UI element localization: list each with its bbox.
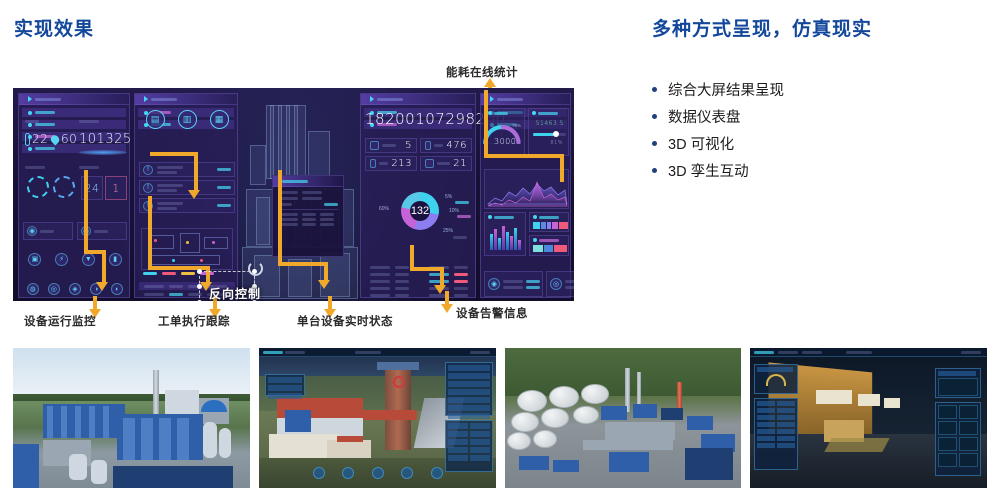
gauge-icon: ▣ xyxy=(28,253,41,266)
page-title-right: 多种方式呈现，仿真现实 xyxy=(652,14,872,41)
list-item: 3D 可视化 xyxy=(652,130,982,157)
bullet-dot-icon xyxy=(652,141,657,146)
heatmap-widget-b xyxy=(529,235,569,256)
caret-right-icon xyxy=(144,96,148,102)
list-item: 数据仪表盘 xyxy=(652,103,982,130)
list-item: 综合大屏结果呈现 xyxy=(652,76,982,103)
scene-camera-grid-panel[interactable] xyxy=(935,402,981,476)
callout-connector-device-status xyxy=(278,170,388,295)
kpi-mini-tile[interactable]: 213 xyxy=(365,156,417,171)
twin-left-menu[interactable] xyxy=(265,374,305,396)
device-summary-tile[interactable]: ◎ xyxy=(546,271,574,297)
scene-gauge-panel[interactable] xyxy=(754,364,798,394)
donut-slice-percent: 25% xyxy=(443,228,453,234)
twin-topbar[interactable] xyxy=(259,348,496,357)
thumbnail-3d-plant-aerial-day[interactable] xyxy=(13,348,250,488)
water-drop-icon xyxy=(49,133,61,145)
donut-slice-percent: 5% xyxy=(445,194,452,200)
workorder-shortcut[interactable]: ▥ xyxy=(178,110,197,129)
annotation-top-label: 能耗在线统计 xyxy=(446,64,518,80)
donut-slice-percent: 10% xyxy=(449,208,459,214)
workorder-shortcut[interactable]: ▤ xyxy=(146,110,165,129)
list-item: 3D 孪生互动 xyxy=(652,157,982,184)
lock-icon: ▦ xyxy=(210,110,229,129)
kpi-mini-tile[interactable]: 21 xyxy=(420,156,472,171)
ring-gauge-a xyxy=(27,176,49,198)
bullet-dot-icon xyxy=(652,114,657,119)
twin-metric-panel[interactable] xyxy=(445,420,493,472)
kpi-mini-tile[interactable]: 5 xyxy=(365,138,417,153)
rotate-icon[interactable] xyxy=(248,261,263,276)
annotation-label: 设备告警信息 xyxy=(456,305,528,321)
kpi-mini-value: 21 xyxy=(453,158,467,169)
meter-icon: ◎ xyxy=(550,278,562,290)
status-dot-icon xyxy=(488,215,492,219)
bar-chart-widget xyxy=(484,212,526,256)
thermometer-icon xyxy=(25,133,30,146)
caret-right-icon xyxy=(370,96,374,102)
resize-handle[interactable] xyxy=(197,284,202,289)
device-icon: ◉ xyxy=(27,226,37,236)
kpi-item: 10729 xyxy=(415,110,465,128)
metric-pressure: 101325 xyxy=(79,130,132,155)
device-summary-tile[interactable]: ◉ xyxy=(484,271,543,297)
scene-topbar[interactable] xyxy=(750,348,987,357)
annotation-label: 工单执行跟踪 xyxy=(158,313,230,329)
heatmap-widget-a xyxy=(529,212,569,232)
semicircle-gauge-icon xyxy=(766,374,786,386)
status-dot-icon xyxy=(533,238,537,242)
list-item-label: 数据仪表盘 xyxy=(668,106,741,127)
bullet-dot-icon xyxy=(652,168,657,173)
annotation-label: 单台设备实时状态 xyxy=(297,313,393,329)
callout-connector-energy xyxy=(480,80,590,185)
overlay-label-reverse-control: 反向控制 xyxy=(209,285,261,301)
scene-list-panel[interactable] xyxy=(754,398,798,470)
callout-connector-monitor xyxy=(54,170,114,295)
thumbnail-3d-night-facility-interior[interactable] xyxy=(750,348,987,488)
donut-center-value: 132 xyxy=(401,192,439,230)
status-dot-icon xyxy=(533,215,537,219)
tools-icon xyxy=(425,159,434,168)
temperature-value: 22 xyxy=(32,132,48,146)
kpi-value: 18200 xyxy=(365,110,415,128)
kpi-item: 18200 xyxy=(365,110,415,128)
thumbnail-strip xyxy=(13,348,987,488)
metric-temperature: 22 xyxy=(25,132,48,146)
page-title-left: 实现效果 xyxy=(14,14,94,41)
list-item-label: 3D 孪生互动 xyxy=(668,160,749,181)
gauge-icon: ◉ xyxy=(488,278,500,290)
twin-status-panel[interactable] xyxy=(445,362,493,416)
pressure-value: 101325 xyxy=(79,132,132,147)
icon-tile[interactable]: ▣ xyxy=(23,253,47,266)
panel-header xyxy=(135,94,237,105)
resize-handle[interactable] xyxy=(197,300,202,301)
list-item-label: 综合大屏结果呈现 xyxy=(668,79,784,100)
document-icon: ▥ xyxy=(178,110,197,129)
section-header-environment xyxy=(22,108,126,117)
twin-bottom-toolbar[interactable] xyxy=(313,464,443,482)
kpi-mini-value: 213 xyxy=(391,158,412,169)
kpi-mini-value: 476 xyxy=(446,140,467,151)
feature-list: 综合大屏结果呈现 数据仪表盘 3D 可视化 3D 孪生互动 xyxy=(652,76,982,184)
icon-tile[interactable]: ◍ xyxy=(23,283,42,295)
pump-icon: ◍ xyxy=(27,283,39,295)
callout-connector-alarm xyxy=(410,245,470,297)
kpi-mini-value: 5 xyxy=(405,140,412,151)
annotation-label: 设备运行监控 xyxy=(24,313,96,329)
panel-header xyxy=(19,94,129,105)
thumbnail-3d-digital-twin-cement-plant[interactable] xyxy=(259,348,496,488)
resize-handle[interactable] xyxy=(197,269,202,274)
stack-icon xyxy=(370,141,379,150)
hotspot-marker[interactable] xyxy=(393,376,405,388)
scene-minimap-panel[interactable] xyxy=(935,368,981,398)
workorder-shortcut[interactable]: ▦ xyxy=(210,110,229,129)
bullet-dot-icon xyxy=(652,87,657,92)
humidity-value: 60 xyxy=(61,132,77,146)
caret-right-icon xyxy=(28,96,32,102)
panel-header xyxy=(361,94,475,105)
chart-icon: ▤ xyxy=(146,110,165,129)
truck-icon xyxy=(425,141,431,150)
status-dot-icon xyxy=(28,111,32,115)
list-item-label: 3D 可视化 xyxy=(668,133,734,154)
metric-humidity: 60 xyxy=(51,132,77,146)
pressure-gauge-glow xyxy=(79,150,127,155)
thumbnail-3d-refinery-aerial[interactable] xyxy=(505,348,742,488)
card-icon xyxy=(370,159,376,168)
kpi-group: 18200 10729 8200 xyxy=(365,110,473,130)
kpi-value: 10729 xyxy=(415,110,465,128)
kpi-mini-tile[interactable]: 476 xyxy=(420,138,472,153)
